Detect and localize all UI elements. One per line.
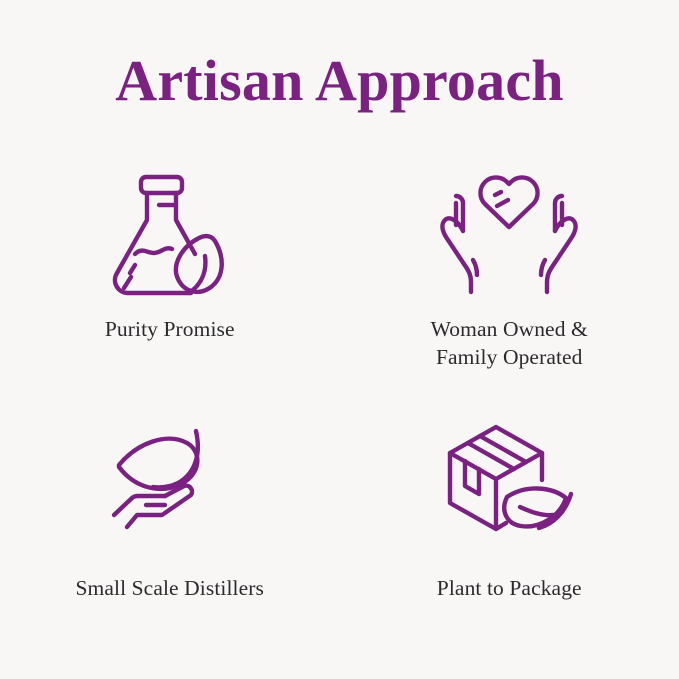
feature-item-woman-owned: Woman Owned & Family Operated	[340, 152, 679, 387]
feature-grid: Purity Promise	[0, 152, 679, 622]
artisan-approach-panel: Artisan Approach	[0, 0, 679, 679]
feature-item-purity-promise: Purity Promise	[0, 152, 340, 387]
feature-label: Plant to Package	[437, 575, 582, 603]
page-title: Artisan Approach	[0, 52, 679, 110]
feature-item-plant-to-package: Plant to Package	[340, 387, 679, 622]
feature-label: Woman Owned & Family Operated	[431, 316, 588, 371]
feature-label: Purity Promise	[105, 316, 235, 344]
flask-with-leaf-icon	[95, 162, 245, 302]
hand-holding-leaf-icon	[95, 413, 245, 553]
feature-item-small-scale-distillers: Small Scale Distillers	[0, 387, 340, 622]
feature-label: Small Scale Distillers	[75, 575, 264, 603]
box-with-leaf-icon	[434, 413, 584, 553]
hands-holding-heart-icon	[434, 162, 584, 302]
